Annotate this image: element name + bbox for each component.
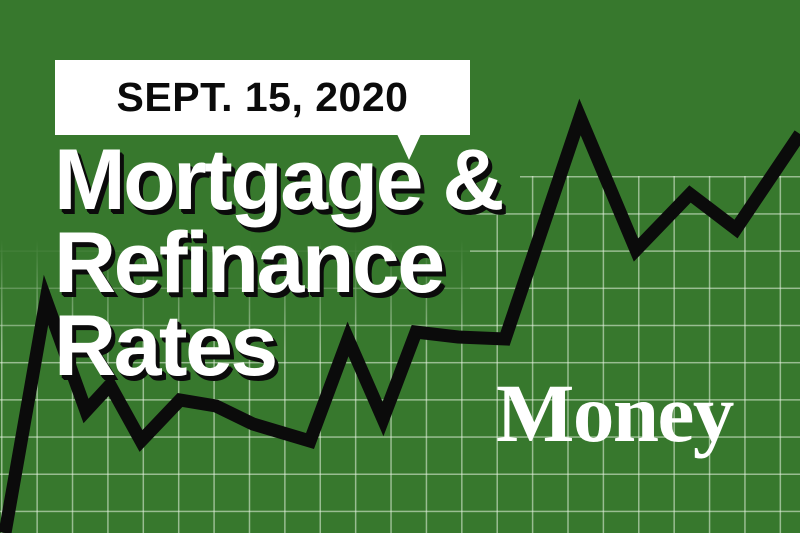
headline-line-1: Mortgage & xyxy=(54,139,614,222)
headline-line-2: Refinance xyxy=(54,222,614,305)
date-badge-label: SEPT. 15, 2020 xyxy=(117,77,409,118)
page-title: Mortgage & Refinance Rates xyxy=(54,139,614,388)
date-badge: SEPT. 15, 2020 xyxy=(55,60,470,135)
money-brand-logo: Money xyxy=(496,372,733,455)
mortgage-rates-hero-graphic: SEPT. 15, 2020 Mortgage & Refinance Rate… xyxy=(0,0,800,533)
